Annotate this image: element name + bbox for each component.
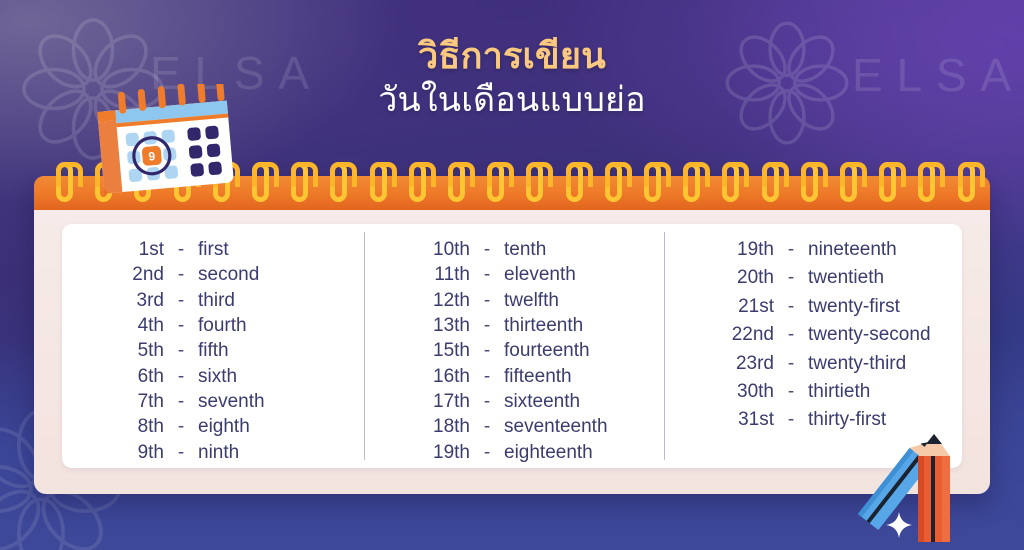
ordinal-word: sixth: [198, 367, 237, 386]
ordinal-row: 11th-eleventh: [390, 265, 664, 290]
ordinal-word: second: [198, 265, 259, 284]
ordinal-number: 1st: [90, 240, 164, 259]
ordinal-number: 4th: [90, 316, 164, 335]
spiral-ring: [526, 162, 543, 202]
ordinal-number: 17th: [390, 392, 470, 411]
ordinal-row: 3rd-third: [90, 291, 364, 316]
ordinal-word: fourteenth: [504, 341, 590, 360]
ordinal-separator: -: [164, 392, 198, 411]
ordinal-separator: -: [470, 291, 504, 310]
ordinal-row: 9th-ninth: [90, 443, 364, 468]
ordinal-row: 20th-twentieth: [688, 268, 962, 296]
ordinal-word: third: [198, 291, 235, 310]
ordinal-separator: -: [164, 240, 198, 259]
ordinal-separator: -: [774, 240, 808, 259]
ordinal-number: 2nd: [90, 265, 164, 284]
ordinal-number: 6th: [90, 367, 164, 386]
ordinal-word: fifteenth: [504, 367, 572, 386]
ordinal-separator: -: [470, 341, 504, 360]
ordinal-row: 1st-first: [90, 240, 364, 265]
ordinal-number: 15th: [390, 341, 470, 360]
spiral-ring: [762, 162, 779, 202]
ordinal-number: 19th: [688, 240, 774, 259]
ordinal-row: 13th-thirteenth: [390, 316, 664, 341]
ordinal-word: twenty-first: [808, 297, 900, 316]
ordinal-row: 8th-eighth: [90, 417, 364, 442]
ordinal-row: 6th-sixth: [90, 367, 364, 392]
ordinal-number: 3rd: [90, 291, 164, 310]
ordinal-separator: -: [164, 291, 198, 310]
spiral-ring: [918, 162, 935, 202]
ordinal-separator: -: [164, 341, 198, 360]
spiral-ring: [409, 162, 426, 202]
ordinal-word: seventeenth: [504, 417, 608, 436]
calendar-icon: 9: [92, 84, 240, 201]
ordinal-word: nineteenth: [808, 240, 897, 259]
spiral-ring: [958, 162, 975, 202]
ordinal-number: 30th: [688, 382, 774, 401]
spiral-ring: [56, 162, 73, 202]
ordinal-row: 18th-seventeenth: [390, 417, 664, 442]
sparkle-icon: [886, 512, 912, 543]
ordinals-column-2: 10th-tenth11th-eleventh12th-twelfth13th-…: [364, 224, 664, 468]
ordinal-number: 16th: [390, 367, 470, 386]
ordinal-word: eleventh: [504, 265, 576, 284]
ordinal-row: 23rd-twenty-third: [688, 354, 962, 382]
spiral-ring: [487, 162, 504, 202]
ordinal-word: thirtieth: [808, 382, 870, 401]
ordinal-row: 12th-twelfth: [390, 291, 664, 316]
ordinal-word: twentieth: [808, 268, 884, 287]
ordinal-number: 7th: [90, 392, 164, 411]
ordinal-row: 22nd-twenty-second: [688, 325, 962, 353]
ordinal-number: 8th: [90, 417, 164, 436]
ordinal-word: tenth: [504, 240, 546, 259]
ordinal-separator: -: [470, 240, 504, 259]
ordinal-row: 4th-fourth: [90, 316, 364, 341]
ordinal-word: seventh: [198, 392, 265, 411]
spiral-ring: [370, 162, 387, 202]
spiral-ring: [683, 162, 700, 202]
ordinal-number: 20th: [688, 268, 774, 287]
ordinal-number: 10th: [390, 240, 470, 259]
ordinal-separator: -: [470, 443, 504, 462]
spiral-ring: [801, 162, 818, 202]
ordinal-number: 11th: [390, 265, 470, 284]
ordinal-separator: -: [470, 392, 504, 411]
ordinal-number: 18th: [390, 417, 470, 436]
spiral-ring: [448, 162, 465, 202]
ordinal-row: 16th-fifteenth: [390, 367, 664, 392]
ordinal-number: 12th: [390, 291, 470, 310]
ordinal-row: 7th-seventh: [90, 392, 364, 417]
ordinal-row: 19th-eighteenth: [390, 443, 664, 468]
ordinal-word: thirty-first: [808, 410, 886, 429]
ordinal-separator: -: [774, 354, 808, 373]
spiral-ring: [330, 162, 347, 202]
ordinal-row: 30th-thirtieth: [688, 382, 962, 410]
ordinal-word: eighth: [198, 417, 250, 436]
ordinal-number: 31st: [688, 410, 774, 429]
ordinal-word: eighteenth: [504, 443, 593, 462]
ordinal-number: 9th: [90, 443, 164, 462]
ordinal-row: 5th-fifth: [90, 341, 364, 366]
ordinal-row: 10th-tenth: [390, 240, 664, 265]
spiral-ring: [879, 162, 896, 202]
ordinal-word: sixteenth: [504, 392, 580, 411]
ordinal-number: 19th: [390, 443, 470, 462]
ordinal-number: 23rd: [688, 354, 774, 373]
ordinal-word: ninth: [198, 443, 239, 462]
spiral-ring: [722, 162, 739, 202]
ordinal-row: 2nd-second: [90, 265, 364, 290]
ordinal-word: twenty-second: [808, 325, 931, 344]
ordinal-word: fourth: [198, 316, 247, 335]
ordinal-separator: -: [774, 325, 808, 344]
ordinal-word: first: [198, 240, 229, 259]
ordinal-separator: -: [774, 268, 808, 287]
spiral-ring: [252, 162, 269, 202]
ordinal-row: 15th-fourteenth: [390, 341, 664, 366]
ordinal-separator: -: [164, 316, 198, 335]
spiral-ring: [644, 162, 661, 202]
pencil-icon: [918, 434, 950, 542]
ordinals-column-1: 1st-first2nd-second3rd-third4th-fourth5t…: [62, 224, 364, 468]
ordinals-table: 1st-first2nd-second3rd-third4th-fourth5t…: [62, 224, 962, 468]
ordinal-number: 13th: [390, 316, 470, 335]
ordinal-separator: -: [774, 410, 808, 429]
ordinal-number: 5th: [90, 341, 164, 360]
spiral-ring: [840, 162, 857, 202]
ordinal-word: twenty-third: [808, 354, 906, 373]
ordinal-separator: -: [774, 382, 808, 401]
ordinal-separator: -: [470, 367, 504, 386]
ordinal-row: 21st-twenty-first: [688, 297, 962, 325]
ordinal-separator: -: [470, 316, 504, 335]
ordinal-separator: -: [470, 417, 504, 436]
ordinal-word: twelfth: [504, 291, 559, 310]
ordinal-number: 22nd: [688, 325, 774, 344]
ordinal-separator: -: [164, 417, 198, 436]
title-line-primary: วิธีการเขียน: [0, 34, 1024, 78]
ordinal-separator: -: [774, 297, 808, 316]
ordinal-number: 21st: [688, 297, 774, 316]
ordinal-separator: -: [164, 265, 198, 284]
ordinal-word: thirteenth: [504, 316, 583, 335]
ordinal-separator: -: [470, 265, 504, 284]
ordinal-word: fifth: [198, 341, 229, 360]
ordinal-separator: -: [164, 367, 198, 386]
ordinal-separator: -: [164, 443, 198, 462]
spiral-ring: [291, 162, 308, 202]
spiral-ring: [605, 162, 622, 202]
ordinal-row: 19th-nineteenth: [688, 240, 962, 268]
ordinal-row: 17th-sixteenth: [390, 392, 664, 417]
spiral-ring: [566, 162, 583, 202]
